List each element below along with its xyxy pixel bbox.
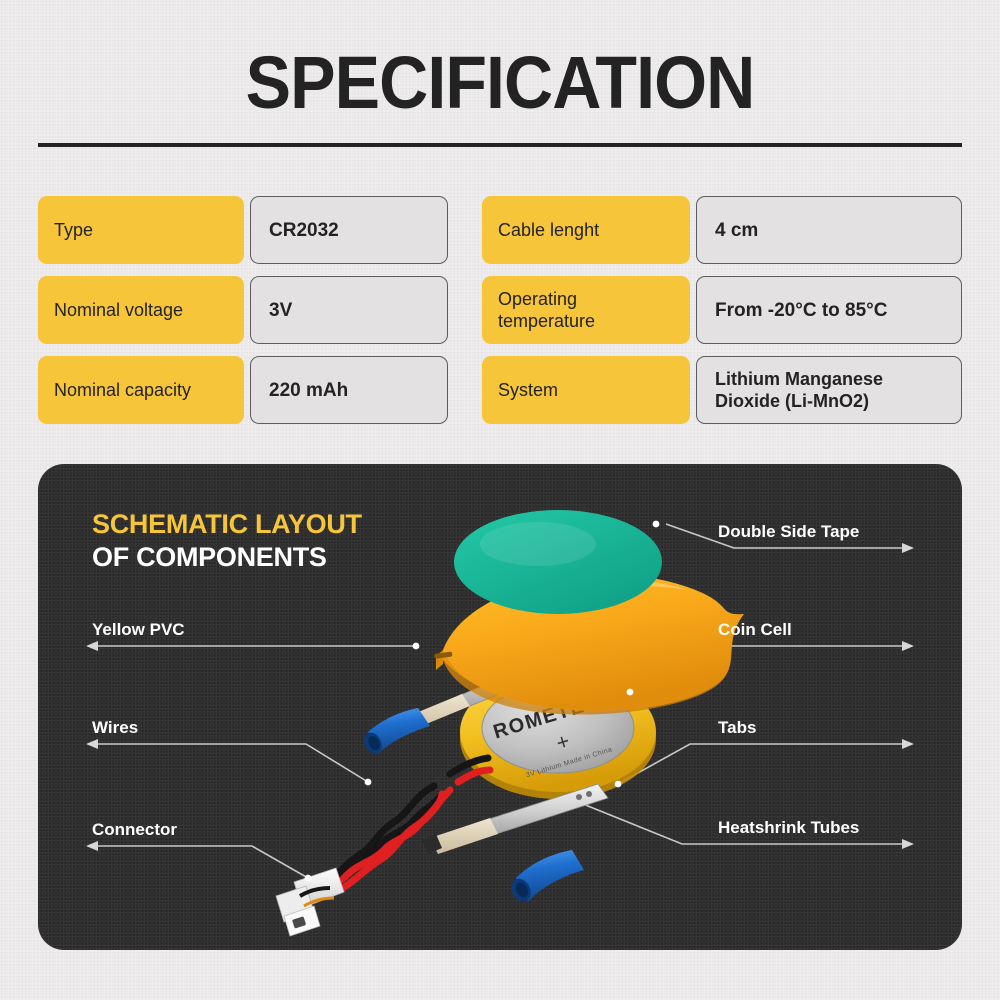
connector-illustration [276, 868, 344, 936]
spec-value: From -20°C to 85°C [696, 276, 962, 344]
spec-value: 4 cm [696, 196, 962, 264]
leader-dot-coin-cell [627, 689, 634, 696]
spec-row: System Lithium Manganese Dioxide (Li-MnO… [482, 356, 962, 424]
spec-key: Operating temperature [482, 276, 690, 344]
spec-row: Nominal capacity 220 mAh [38, 356, 448, 424]
spec-value: 3V [250, 276, 448, 344]
heatshrink-tube-upper-illustration [361, 708, 430, 756]
double-side-tape-illustration [454, 510, 662, 614]
callout-label-wires: Wires [92, 717, 138, 738]
spec-column-right: Cable lenght 4 cm Operating temperature … [482, 196, 962, 424]
spec-key: Nominal voltage [38, 276, 244, 344]
spec-row: Nominal voltage 3V [38, 276, 448, 344]
schematic-heading-line1: SCHEMATIC LAYOUT [92, 508, 362, 541]
title-divider [38, 143, 962, 147]
callout-label-coin-cell: Coin Cell [718, 619, 792, 640]
leader-arrowheads-right [902, 543, 914, 849]
page-title: SPECIFICATION [40, 44, 960, 122]
leader-lines-left [92, 646, 416, 878]
spec-key: Type [38, 196, 244, 264]
heatshrink-tube-lower-illustration [507, 850, 584, 905]
spec-row: Cable lenght 4 cm [482, 196, 962, 264]
spec-value: Lithium Manganese Dioxide (Li-MnO2) [696, 356, 962, 424]
schematic-panel: ROMETECH + 3V Lithium Made in China [38, 464, 962, 950]
spec-row: Operating temperature From -20°C to 85°C [482, 276, 962, 344]
callout-label-connector: Connector [92, 819, 177, 840]
schematic-heading-line2: OF COMPONENTS [92, 541, 362, 574]
callout-label-heatshrink-tubes: Heatshrink Tubes [718, 817, 859, 838]
wires-illustration [316, 758, 490, 894]
callout-label-tabs: Tabs [718, 717, 756, 738]
leader-dot-wires [365, 779, 372, 786]
leader-dot-pvc [413, 643, 420, 650]
schematic-heading: SCHEMATIC LAYOUT OF COMPONENTS [92, 508, 362, 574]
spec-value: CR2032 [250, 196, 448, 264]
specification-table: Type CR2032 Nominal voltage 3V Nominal c… [38, 196, 962, 424]
spec-key: System [482, 356, 690, 424]
spec-row: Type CR2032 [38, 196, 448, 264]
spec-column-left: Type CR2032 Nominal voltage 3V Nominal c… [38, 196, 448, 424]
callout-label-yellow-pvc: Yellow PVC [92, 619, 185, 640]
spec-key: Cable lenght [482, 196, 690, 264]
leader-dot-tabs [615, 781, 622, 788]
callout-label-double-side-tape: Double Side Tape [718, 521, 859, 542]
spec-value: 220 mAh [250, 356, 448, 424]
spec-key: Nominal capacity [38, 356, 244, 424]
